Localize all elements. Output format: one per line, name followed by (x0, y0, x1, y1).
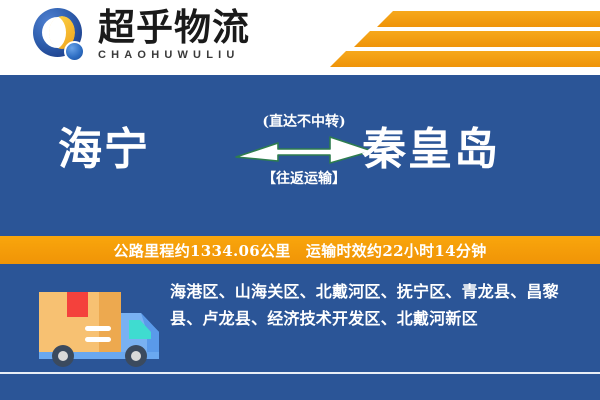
bottom-divider-line (0, 372, 600, 374)
coverage-section: 海港区、山海关区、北戴河区、抚宁区、青龙县、昌黎县、卢龙县、经济技术开发区、北戴… (0, 264, 600, 400)
coverage-districts-text: 海港区、山海关区、北戴河区、抚宁区、青龙县、昌黎县、卢龙县、经济技术开发区、北戴… (170, 278, 580, 332)
chaohu-circle-logo-icon (33, 8, 90, 65)
brand-name-cn: 超乎物流 (98, 7, 250, 47)
bidirectional-route-arrow-icon (234, 135, 374, 165)
stripe-1 (377, 11, 600, 27)
round-trip-note: 【往返运输】 (234, 168, 374, 188)
logistics-route-banner: 超乎物流 CHAOHUWULIU 海宁 (直达不中转) 【往返运输】 秦皇岛 公… (0, 0, 600, 400)
delivery-truck-icon (33, 280, 168, 370)
stripe-3 (330, 51, 600, 67)
stripe-2 (354, 31, 600, 47)
destination-city-label: 秦皇岛 (362, 113, 500, 177)
origin-city-label: 海宁 (58, 113, 150, 177)
brand-block: 超乎物流 CHAOHUWULIU (98, 7, 250, 61)
route-info-bar: 公路里程约1334.06公里 运输时效约22小时14分钟 (0, 236, 600, 264)
direct-service-note: (直达不中转) (234, 111, 374, 131)
header-stripes-decoration (310, 0, 600, 75)
logo-dot-shape (64, 41, 85, 62)
route-middle-block: (直达不中转) 【往返运输】 (234, 111, 374, 188)
brand-name-en: CHAOHUWULIU (98, 49, 250, 61)
route-band: 海宁 (直达不中转) 【往返运输】 秦皇岛 (0, 75, 600, 235)
banner-header: 超乎物流 CHAOHUWULIU (0, 0, 600, 75)
distance-and-duration-text: 公路里程约1334.06公里 运输时效约22小时14分钟 (114, 240, 487, 261)
